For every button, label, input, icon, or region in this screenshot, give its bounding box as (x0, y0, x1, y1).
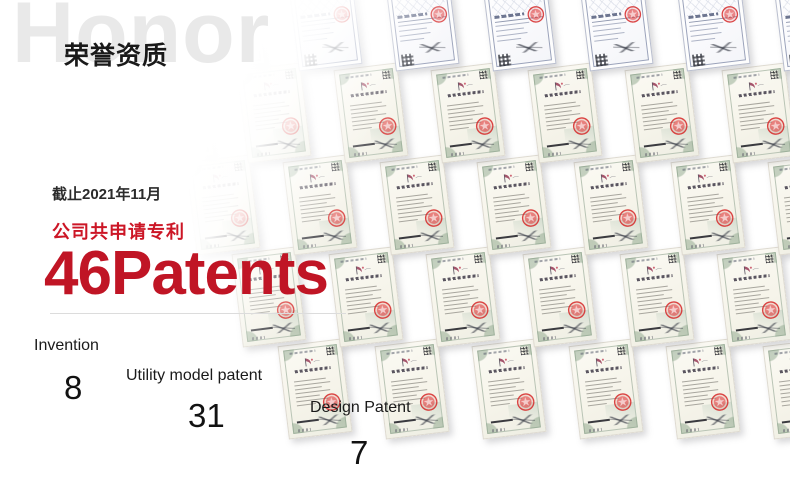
honor-qualification-slide: Honor 荣誉资质 截止2021年11月 公司共申请专利 46Patents … (0, 0, 790, 488)
stat-value-invention: 8 (64, 369, 82, 407)
stat-label-design-patent: Design Patent (310, 399, 411, 417)
stat-value-utility-model-patent: 31 (188, 397, 225, 435)
stat-label-utility-model-patent: Utility model patent (126, 367, 262, 385)
total-patents-headline: 46Patents (44, 238, 328, 309)
foreground-content: Honor 荣誉资质 截止2021年11月 公司共申请专利 46Patents … (0, 0, 790, 488)
stat-value-design-patent: 7 (350, 434, 368, 472)
divider-rule (50, 313, 346, 314)
page-title: 荣誉资质 (64, 36, 168, 72)
as-of-date-label: 截止2021年11月 (52, 183, 161, 204)
stat-label-invention: Invention (34, 337, 99, 355)
